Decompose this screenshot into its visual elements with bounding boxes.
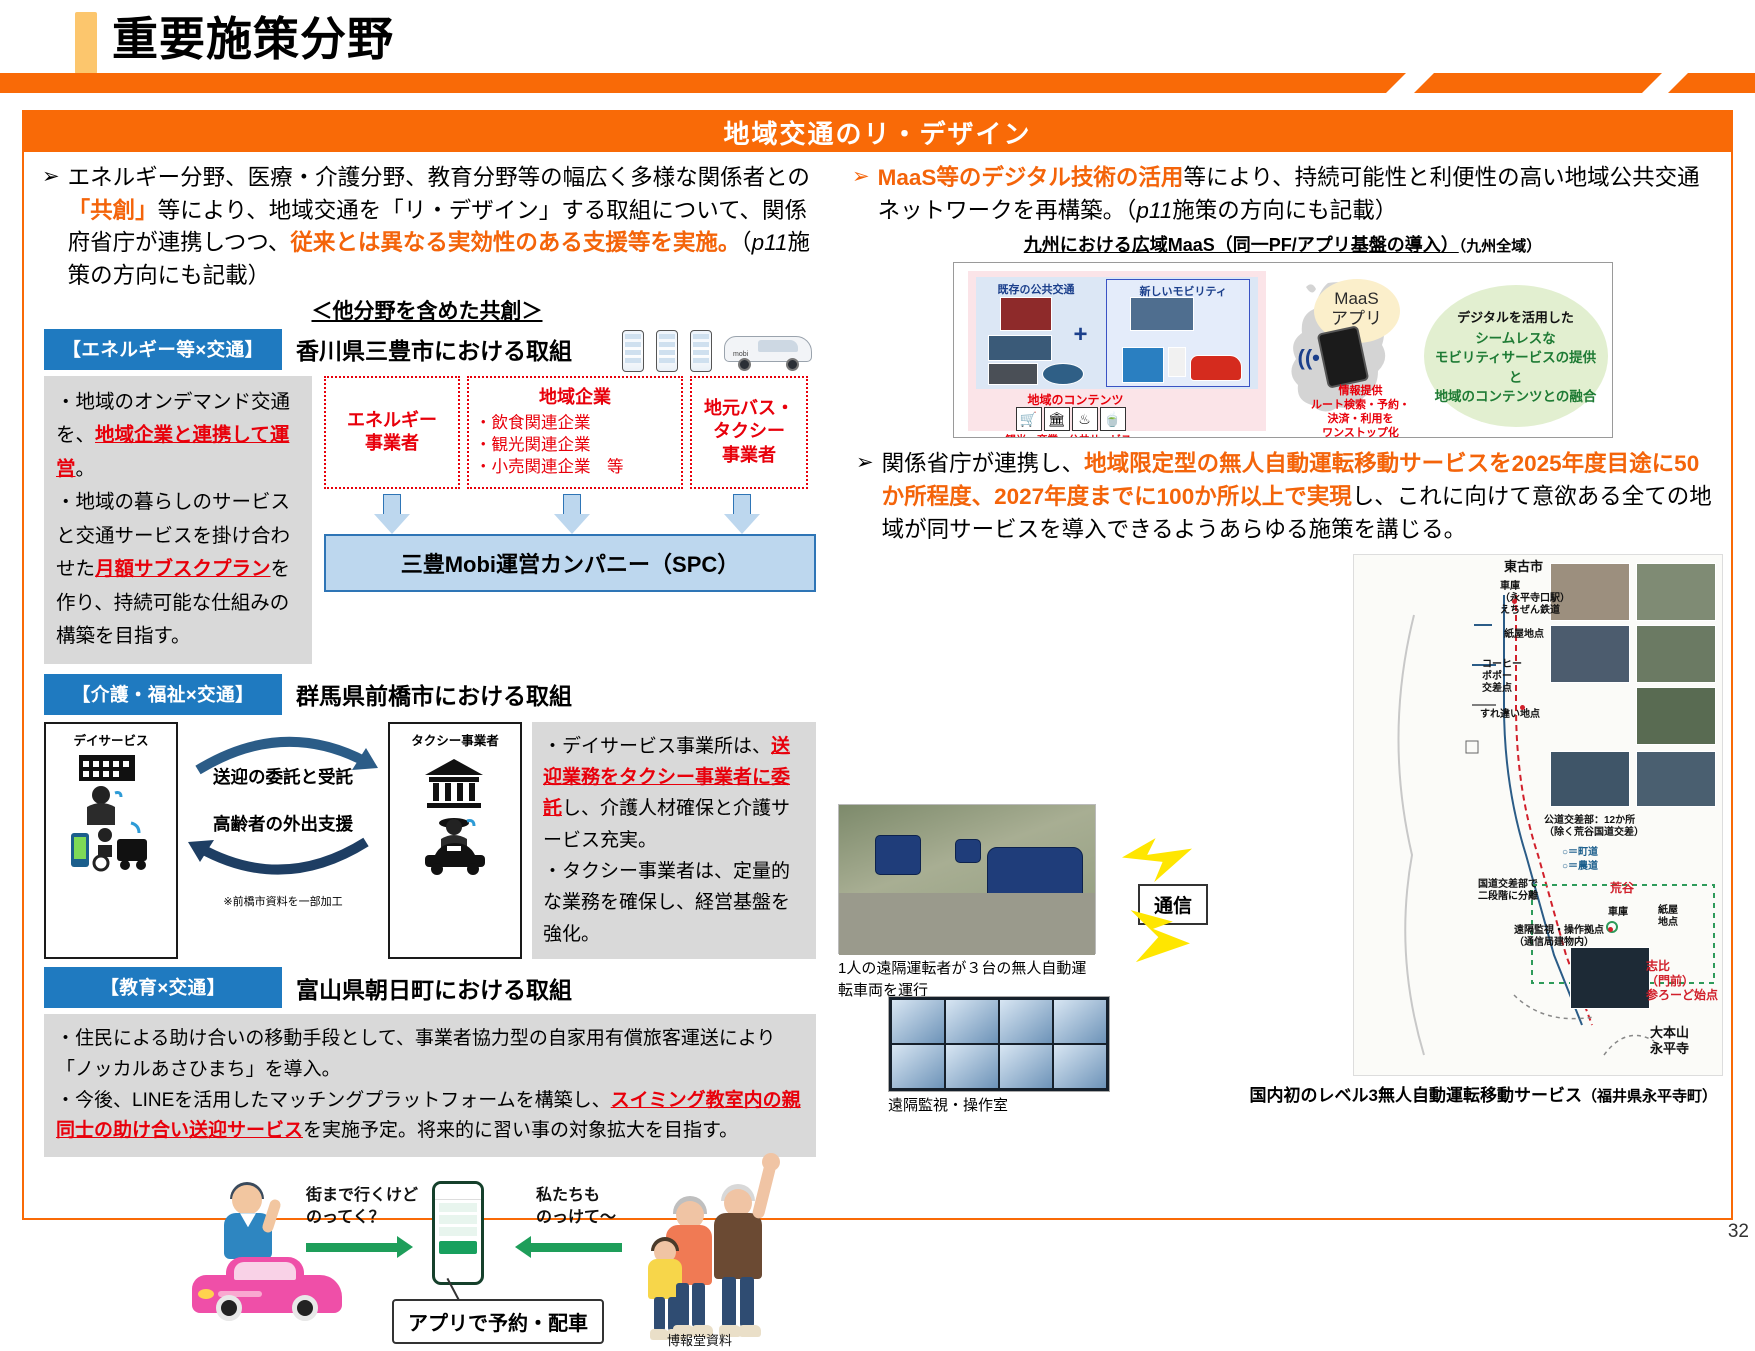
case3-title: 富山県朝日町における取組 <box>296 971 572 1005</box>
smartphone-icon <box>690 330 712 372</box>
arc-label-top: 送迎の委託と受託 <box>188 764 378 789</box>
case1-category-tag: 【エネルギー等×交通】 <box>44 329 282 370</box>
actor-box-bus-taxi-label: 地元バス・ タクシー 事業者 <box>698 397 800 467</box>
plane-photo <box>1042 363 1084 385</box>
case1-text-box: ・地域のオンデマンド交通を、地域企業と連携して運営。 ・地域の暮らしのサービスと… <box>44 376 312 664</box>
maas-green-body: シームレスな モビリティサービスの提供 と 地域のコンテンツとの融合 <box>1430 329 1602 406</box>
bullet-marker-icon: ➢ <box>42 162 60 293</box>
bus-photo <box>988 335 1052 361</box>
header-divider <box>0 73 1755 93</box>
case1-bullet-2: ・地域の暮らしのサービスと交通サービスを掛け合わせた月額サブスクプランを作り、持… <box>56 486 300 654</box>
dayservice-card: デイサービス <box>44 722 178 959</box>
arrow-right-icon <box>306 1243 398 1252</box>
right-bullet-2: ➢ 関係省庁が連携し、地域限定型の無人自動運転移動サービスを2025年度目途に5… <box>832 438 1733 546</box>
right-column: ➢ MaaS等のデジタル技術の活用等により、持続可能性と利便性の高い地域公共交通… <box>832 154 1733 1220</box>
illustration-credit: 博報堂資料 <box>667 1330 732 1349</box>
plus-icon: + <box>1074 321 1088 349</box>
case3-category-tag: 【教育×交通】 <box>44 967 282 1008</box>
maas-figure-caption: 九州における広域MaaS（同一PF/アプリ基盤の導入）（九州全域） <box>832 231 1733 257</box>
divider-segment <box>0 73 1406 93</box>
case2-bullet-1: ・デイサービス事業所は、送迎業務をタクシー事業者に委託し、介護人材確保と介護サー… <box>543 731 805 856</box>
case1-actor-boxes: エネルギー 事業者 地域企業 ・飲食関連企業 ・観光関連企業 ・小売関連企業 等… <box>324 376 816 489</box>
list-item: ・観光関連企業 <box>475 434 675 456</box>
actor-box-local-list: ・飲食関連企業 ・観光関連企業 ・小売関連企業 等 <box>475 412 675 479</box>
caption-level3-service: 国内初のレベル3無人自動運転移動サービス（福井県永平寺町） <box>1250 1081 1717 1106</box>
bullet-marker-icon: ➢ <box>852 162 870 227</box>
maas-onestop-text: 情報提供 ルート検索・予約・ 決済・利用を ワンストップ化 <box>1306 385 1416 438</box>
case2-text-box: ・デイサービス事業所は、送迎業務をタクシー事業者に委託し、介護人材確保と介護サー… <box>532 722 816 959</box>
taxi-operator-card: タクシー事業者 <box>388 722 522 959</box>
map-legend-town-road: ○＝町道 <box>1562 847 1598 859</box>
r-bullet2-seg1: 関係省庁が連携し、 <box>882 451 1085 476</box>
case1-result-box: 三豊Mobi運営カンパニー（SPC） <box>324 534 816 592</box>
map-photo-road-3 <box>1636 687 1716 745</box>
app-phone-photo <box>1168 347 1186 377</box>
case1-body: ・地域のオンデマンド交通を、地域企業と連携して運営。 ・地域の暮らしのサービスと… <box>44 376 816 664</box>
down-arrow-icon <box>374 494 410 534</box>
case2-title: 群馬県前橋市における取組 <box>296 677 572 711</box>
bullet1-page-ref: p11 <box>752 230 788 255</box>
r-bullet1-page-ref: p11 <box>1136 198 1172 223</box>
left-column: ➢ エネルギー分野、医療・介護分野、教育分野等の幅広く多様な関係者との「共創」等… <box>24 154 830 1220</box>
left-bullet-1: ➢ エネルギー分野、医療・介護分野、教育分野等の幅広く多様な関係者との「共創」等… <box>24 154 830 293</box>
case1-diagram: mobi エネルギー 事業者 地域企業 ・飲食関連企業 <box>324 376 816 664</box>
maas-green-heading: デジタルを活用した <box>1430 307 1602 326</box>
map-legend-farm-road: ○＝農道 <box>1562 861 1598 873</box>
list-item: ・小売関連企業 等 <box>475 456 675 478</box>
bullet-marker-icon: ➢ <box>856 448 874 546</box>
case2-exchange-arrows: 送迎の委託と受託 高齢者の外出支援 ※前橋市資料を一部加工 <box>188 722 378 959</box>
map-label-kamiya-2: 紙屋 地点 <box>1658 905 1678 929</box>
title-accent-bar <box>75 12 97 74</box>
arc-label-bottom: 高齢者の外出支援 <box>188 811 378 836</box>
smartphone-app-illustration <box>432 1181 484 1285</box>
case3-illustration: 街まで行くけど のってく？ 私たちも のっけて～ <box>44 1159 816 1351</box>
speech-bubble-right: 私たちも のっけて～ <box>536 1185 616 1228</box>
eiheiji-route-map: 東古市 車庫 （永平寺口駅） えちぜん鉄道 紙屋地点 コーヒー ポポー 交差点 … <box>1353 554 1723 1076</box>
map-label-passing-point: すれ違い地点 <box>1480 709 1540 721</box>
map-photo-road-1 <box>1636 563 1716 621</box>
page-number: 32 <box>1728 1221 1749 1243</box>
bullet1-seg5: （ <box>740 230 751 255</box>
caption-autonomous-vehicles: 1人の遠隔運転者が３台の無人自動運転車両を運行 <box>838 958 1100 1002</box>
rideshare-car-photo <box>1190 355 1242 381</box>
actor-box-local-companies: 地域企業 ・飲食関連企業 ・観光関連企業 ・小売関連企業 等 <box>467 376 683 489</box>
maas-caption-sub: （九州全域） <box>1459 238 1542 255</box>
maas-label-content: 地域のコンテンツ <box>1028 391 1124 408</box>
app-booking-callout: アプリで予約・配車 <box>392 1299 604 1344</box>
maas-diagram: 既存の公共交通 新しいモビリティ + 地域のコンテンツ 🛒 🏛 ♨ 🍵 観光・商… <box>953 262 1613 438</box>
maas-content-icons: 🛒 🏛 ♨ 🍵 <box>1016 407 1126 431</box>
autonomous-driving-figures: 東古市 車庫 （永平寺口駅） えちぜん鉄道 紙屋地点 コーヒー ポポー 交差点 … <box>832 554 1733 1102</box>
shuttle-photo <box>1122 347 1164 383</box>
case1-title: 香川県三豊市における取組 <box>296 332 572 366</box>
r-bullet1-seg3: 施策の方向にも記載） <box>1172 198 1397 223</box>
c1b1-post: 。 <box>76 458 96 480</box>
speech-bubble-left: 街まで行くけど のってく？ <box>306 1185 418 1228</box>
section-banner-label: 地域交通のリ・デザイン <box>723 114 1031 151</box>
lightning-bolt-icon <box>1122 838 1192 882</box>
actor-box-bus-taxi: 地元バス・ タクシー 事業者 <box>690 376 808 489</box>
divider-segment <box>1414 73 1662 93</box>
arrow-curve-bottom-icon <box>188 832 378 890</box>
c3b2-post: を実施予定。将来的に習い事の対象拡大を目指す。 <box>303 1120 738 1141</box>
onsen-icon: ♨ <box>1072 407 1098 431</box>
actor-box-energy-label: エネルギー 事業者 <box>332 409 452 456</box>
case3-text-box: ・住民による助け合いの移動手段として、事業者協力型の自家用有償旅客運送により「ノ… <box>44 1014 816 1157</box>
smartphone-icon <box>622 330 644 372</box>
map-photo-vehicle-3 <box>1550 751 1630 807</box>
content-frame: 地域交通のリ・デザイン ➢ エネルギー分野、医療・介護分野、教育分野等の幅広く多… <box>22 110 1733 1220</box>
taxi-operator-label: タクシー事業者 <box>411 730 499 749</box>
map-label-aratani: 荒谷 <box>1610 881 1634 895</box>
case3-bullet-1: ・住民による助け合いの移動手段として、事業者協力型の自家用有償旅客運送により「ノ… <box>56 1024 804 1086</box>
train-photo <box>1000 297 1052 331</box>
map-label-crossings: 公道交差部：12か所 （除く荒谷国道交差） <box>1544 815 1644 839</box>
section-banner: 地域交通のリ・デザイン <box>24 112 1731 152</box>
map-photo-ops-room <box>1570 947 1650 1009</box>
maas-label-services: 観光・商業・公共サービス… <box>1006 432 1143 438</box>
bullet1-emphasis-support: 従来とは異なる実効性のある支援等を実施。 <box>290 230 740 255</box>
case2-bullet-2: ・タクシー事業者は、定量的な業務を確保し、経営基盤を強化。 <box>543 856 805 950</box>
list-item: ・飲食関連企業 <box>475 412 675 434</box>
subsection-heading: ＜他分野を含めた共創＞ <box>24 295 830 325</box>
column-divider <box>830 160 831 1210</box>
pink-car-illustration <box>192 1255 342 1323</box>
r-bullet1-emphasis-maas: MaaS等のデジタル技術の活用 <box>878 165 1184 190</box>
c3b2-pre: ・今後、LINEを活用したマッチングプラットフォームを構築し、 <box>56 1090 611 1111</box>
dayservice-illustration-icon <box>65 753 157 875</box>
caption-level3-sub: （福井県永平寺町） <box>1582 1088 1717 1105</box>
map-label-garage-2: 車庫 <box>1608 907 1628 919</box>
caption-level3-main: 国内初のレベル3無人自動運転移動サービス <box>1250 1086 1582 1105</box>
actor-box-local-title: 地域企業 <box>475 386 675 409</box>
caption-remote-operation-room: 遠隔監視・操作室 <box>888 1094 1008 1115</box>
map-photo-vehicle-2 <box>1636 751 1716 807</box>
van-photo <box>988 363 1038 385</box>
smartphone-icon <box>656 330 678 372</box>
map-label-eiheiji: 大本山 永平寺 <box>1650 1025 1689 1056</box>
map-label-remote-base: 遠隔監視・操作拠点 （通信局建物内） <box>1514 925 1604 949</box>
passengers-illustration <box>640 1167 812 1347</box>
museum-icon: 🏛 <box>1044 407 1070 431</box>
case3-bullet-2: ・今後、LINEを活用したマッチングプラットフォームを構築し、スイミング教室内の… <box>56 1086 804 1148</box>
case2-body: デイサービス <box>44 722 816 959</box>
map-label-kamiya-point: 紙屋地点 <box>1504 629 1544 641</box>
right-bullet-2-text: 関係省庁が連携し、地域限定型の無人自動運転移動サービスを2025年度目途に50か… <box>882 448 1713 546</box>
left-bullet-1-text: エネルギー分野、医療・介護分野、教育分野等の幅広く多様な関係者との「共創」等によ… <box>68 162 816 293</box>
down-arrow-icon <box>554 494 590 534</box>
dayservice-label: デイサービス <box>73 730 148 749</box>
shopping-cart-icon: 🛒 <box>1016 407 1042 431</box>
bullet1-seg1: エネルギー分野、医療・介護分野、教育分野等の幅広く多様な関係者との <box>68 165 810 190</box>
case3-header: 【教育×交通】 富山県朝日町における取組 <box>44 967 816 1008</box>
right-bullet-1-text: MaaS等のデジタル技術の活用等により、持続可能性と利便性の高い地域公共交通ネッ… <box>878 162 1715 227</box>
photo-remote-operation-room <box>888 996 1110 1092</box>
map-photo-vehicle-1 <box>1550 625 1630 683</box>
c3b1-pre: ・住民による助け合いの移動手段として、事業者協力型の自家用有償旅客運送により「ノ… <box>56 1028 776 1080</box>
actor-box-energy: エネルギー 事業者 <box>324 376 460 489</box>
maas-label-existing: 既存の公共交通 <box>998 281 1075 297</box>
arrow-left-icon <box>530 1243 622 1252</box>
divider-segment <box>1668 73 1755 93</box>
case2-header: 【介護・福祉×交通】 群馬県前橋市における取組 <box>44 674 816 715</box>
case1-arrow-row <box>324 494 816 534</box>
map-label-national-road: 国道交差部で 二段階に分離 <box>1478 879 1538 903</box>
case1-bullet-1: ・地域のオンデマンド交通を、地域企業と連携して運営。 <box>56 386 300 487</box>
map-label-coffee-crossing: コーヒー ポポー 交差点 <box>1482 659 1522 695</box>
right-bullet-1: ➢ MaaS等のデジタル技術の活用等により、持続可能性と利便性の高い地域公共交通… <box>832 154 1733 227</box>
maas-caption-main: 九州における広域MaaS（同一PF/アプリ基盤の導入） <box>1024 235 1459 255</box>
case2-source-note: ※前橋市資料を一部加工 <box>188 893 378 909</box>
map-label-higashifuruichi: 東古市 <box>1504 559 1543 575</box>
maas-app-bubble-label: MaaS アプリ <box>1314 289 1400 328</box>
down-arrow-icon <box>724 494 760 534</box>
map-label-shihi: 志比 （門前） 参ろーど始点 <box>1646 959 1718 1002</box>
map-label-garage-station: 車庫 （永平寺口駅） えちぜん鉄道 <box>1500 581 1570 617</box>
c2b2-pre: ・タクシー事業者は、定量的な業務を確保し、経営基盤を強化。 <box>543 861 790 945</box>
c1b2-emphasis: 月額サブスクプラン <box>95 558 271 580</box>
case2-category-tag: 【介護・福祉×交通】 <box>44 674 282 715</box>
page-title: 重要施策分野 <box>112 8 394 70</box>
c2b1-post: し、介護人材確保と介護サービス充実。 <box>543 798 790 850</box>
mobi-van-icon: mobi <box>724 332 812 372</box>
photo-autonomous-vehicles <box>838 804 1096 954</box>
taxi-operator-illustration-icon <box>409 753 501 875</box>
wifi-signal-icon: ((• <box>1298 345 1320 371</box>
bullet1-emphasis-kyoso: 「共創」 <box>68 198 158 223</box>
case1-diagram-icons: mobi <box>622 330 812 372</box>
sharecycle-photo <box>1130 297 1194 331</box>
van-badge-label: mobi <box>733 351 748 358</box>
teapot-icon: 🍵 <box>1100 407 1126 431</box>
map-photo-road-2 <box>1636 625 1716 683</box>
c2b1-pre: ・デイサービス事業所は、 <box>543 736 771 757</box>
